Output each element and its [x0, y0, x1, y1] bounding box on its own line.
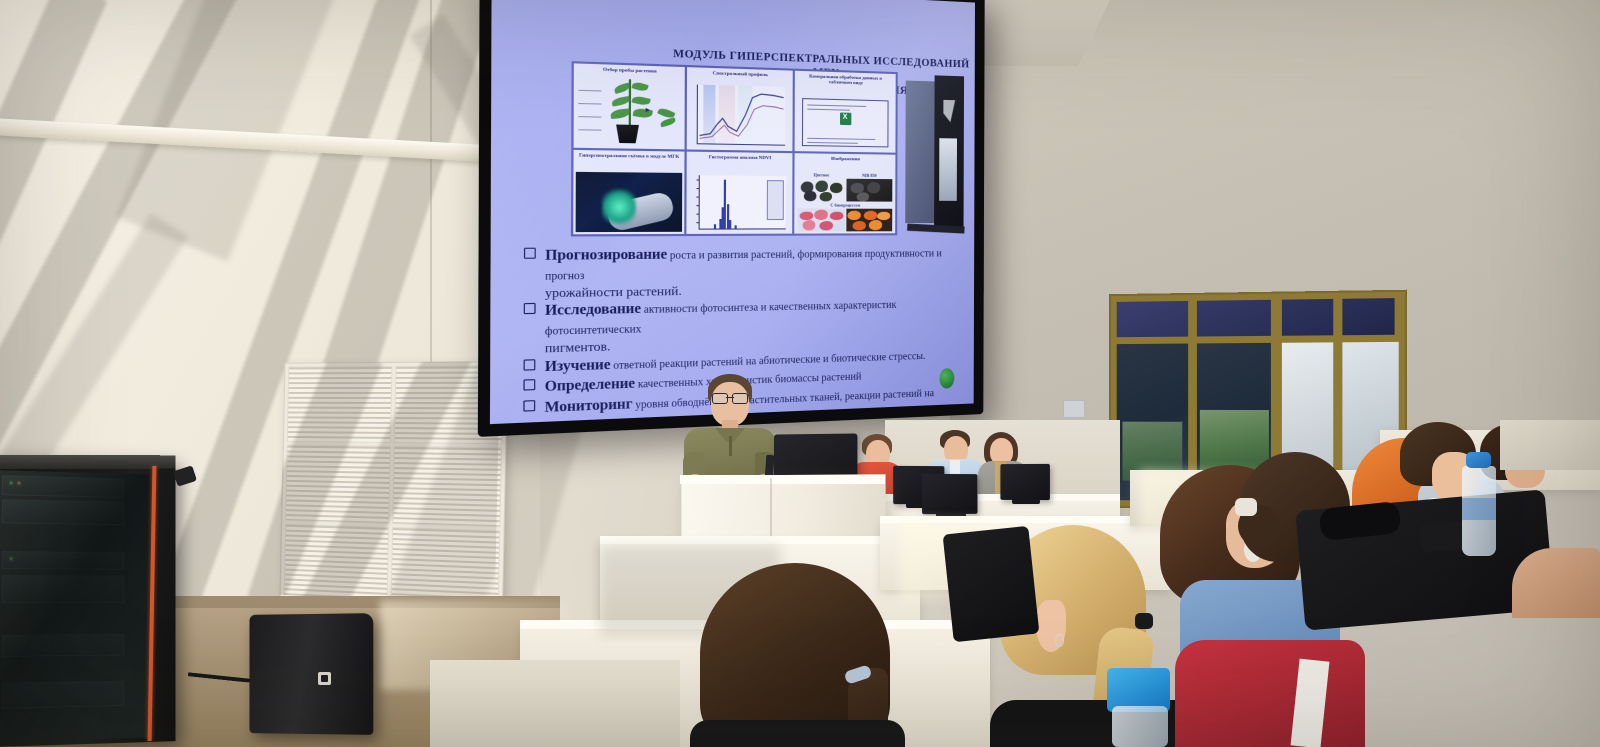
flow-arrow-icon — [645, 108, 650, 112]
checkbox-icon — [524, 248, 536, 259]
plant-leaf — [610, 108, 630, 119]
ndvi-histogram — [699, 175, 786, 229]
leaf-color-image — [798, 178, 845, 201]
bench-top-edge — [880, 516, 1170, 523]
histogram-legend — [767, 180, 784, 220]
slide: МОДУЛЬ ГИПЕРСПЕКТРАЛЬНЫХ ИССЛЕДОВАНИЙ МГ… — [490, 0, 975, 424]
vent-panel — [284, 523, 389, 603]
vent-panel — [287, 366, 392, 443]
checkbox-icon — [524, 359, 536, 370]
diagram-cell-caption: Спектральный профиль — [687, 69, 793, 78]
bullet-item: Прогнозирование роста и развития растени… — [521, 243, 960, 285]
bench-top-edge — [600, 536, 920, 544]
vent-panel — [392, 446, 502, 527]
bottle-label — [1462, 498, 1496, 520]
diagram-cell-caption: Камеральная обработка данных в табличном… — [795, 73, 896, 87]
comparison-label-nir: NIR 850 — [846, 173, 892, 179]
audience-hand — [1512, 548, 1600, 618]
hyperspectral-photo — [576, 172, 683, 232]
earring-icon — [1055, 634, 1064, 647]
plant-leaf — [631, 81, 648, 93]
diagram-cell-software: Камеральная обработка данных в табличном… — [794, 70, 897, 154]
bullet-lead: Изучение — [545, 355, 611, 373]
vent-panel — [285, 445, 390, 524]
diagram-cell-plant-sample: Отбор пробы растения — [572, 62, 686, 150]
diagram-cell-imaging: Гиперспектральная съёмка в модуле МГК — [572, 149, 686, 236]
diagram-cell-caption: Отбор пробы растения — [574, 66, 685, 75]
bottle-cap — [1466, 452, 1491, 468]
flower-nir-image — [846, 209, 892, 232]
lecture-hall-scene: МОДУЛЬ ГИПЕРСПЕКТРАЛЬНЫХ ИССЛЕДОВАНИЙ МГ… — [0, 0, 1600, 747]
plant-leaf — [631, 95, 650, 106]
diagram-cell-histogram: Гистограмма анализа NDVI — [685, 151, 793, 235]
bullet-lead: Определение — [545, 375, 635, 395]
rack-top-panel — [0, 455, 176, 469]
black-bag — [943, 526, 1040, 642]
outside-greenery — [1200, 410, 1269, 472]
tv-screen: МОДУЛЬ ГИПЕРСПЕКТРАЛЬНЫХ ИССЛЕДОВАНИЙ МГ… — [490, 0, 975, 424]
checkbox-icon — [524, 303, 536, 314]
front-bench — [430, 660, 680, 747]
rack-glass-door[interactable] — [0, 470, 150, 742]
bullet-lead: Мониторинг — [545, 396, 633, 416]
panel-monitor[interactable] — [922, 474, 977, 514]
floor-speaker — [249, 613, 373, 735]
hyperspectral-cabinet-photo — [903, 72, 969, 237]
software-window — [802, 98, 889, 147]
audience-jacket — [1175, 640, 1365, 747]
spectral-curve — [698, 85, 786, 145]
workflow-diagram: Отбор пробы растения — [571, 61, 898, 236]
bullet-lead: Прогнозирование — [545, 246, 667, 263]
transom-glass — [1117, 298, 1395, 337]
flower-color-image — [797, 209, 844, 232]
hair-tie — [1235, 498, 1257, 516]
presentation-display[interactable]: МОДУЛЬ ГИПЕРСПЕКТРАЛЬНЫХ ИССЛЕДОВАНИЙ МГ… — [478, 0, 985, 437]
checkbox-icon — [523, 380, 535, 391]
illuminated-plant — [602, 189, 636, 226]
bottle-body — [1112, 706, 1168, 747]
diagram-cell-caption: Гистограмма анализа NDVI — [687, 154, 793, 161]
audience-shoulders — [690, 720, 905, 747]
diagram-cell-caption: Изображения — [795, 155, 896, 162]
plant-pot — [614, 124, 641, 143]
polo-placket — [729, 436, 732, 456]
checkbox-icon — [523, 400, 535, 412]
diagram-cell-spectral-profile: Спектральный профиль — [686, 66, 794, 152]
bullet-lead: Исследование — [545, 300, 641, 318]
diagram-cell-image-comparison: Изображения Цветное NIR 850 — [793, 152, 896, 235]
wall-ventilation-grille — [280, 361, 508, 613]
spectral-plot — [697, 85, 786, 146]
panel-monitor-foot — [1012, 499, 1040, 504]
hair-tie — [1135, 613, 1153, 629]
comparison-label-color: Цветное — [798, 172, 845, 178]
detached-leaf — [660, 117, 677, 127]
diagram-cell-caption: Гиперспектральная съёмка в модуле МГК — [574, 152, 685, 159]
glasses-icon — [712, 393, 748, 402]
speaker-badge-icon — [318, 672, 331, 685]
spreadsheet-icon — [840, 112, 851, 125]
wall-access-plate — [1063, 400, 1085, 418]
podium-top-edge — [680, 475, 885, 484]
comparison-label-bioprocess: С биопроцессом — [798, 202, 893, 207]
panel-monitor[interactable] — [1000, 464, 1050, 500]
side-desk — [1500, 420, 1600, 470]
image-comparison-grid: Цветное NIR 850 — [797, 172, 892, 231]
leaf-nir-image — [846, 179, 892, 202]
